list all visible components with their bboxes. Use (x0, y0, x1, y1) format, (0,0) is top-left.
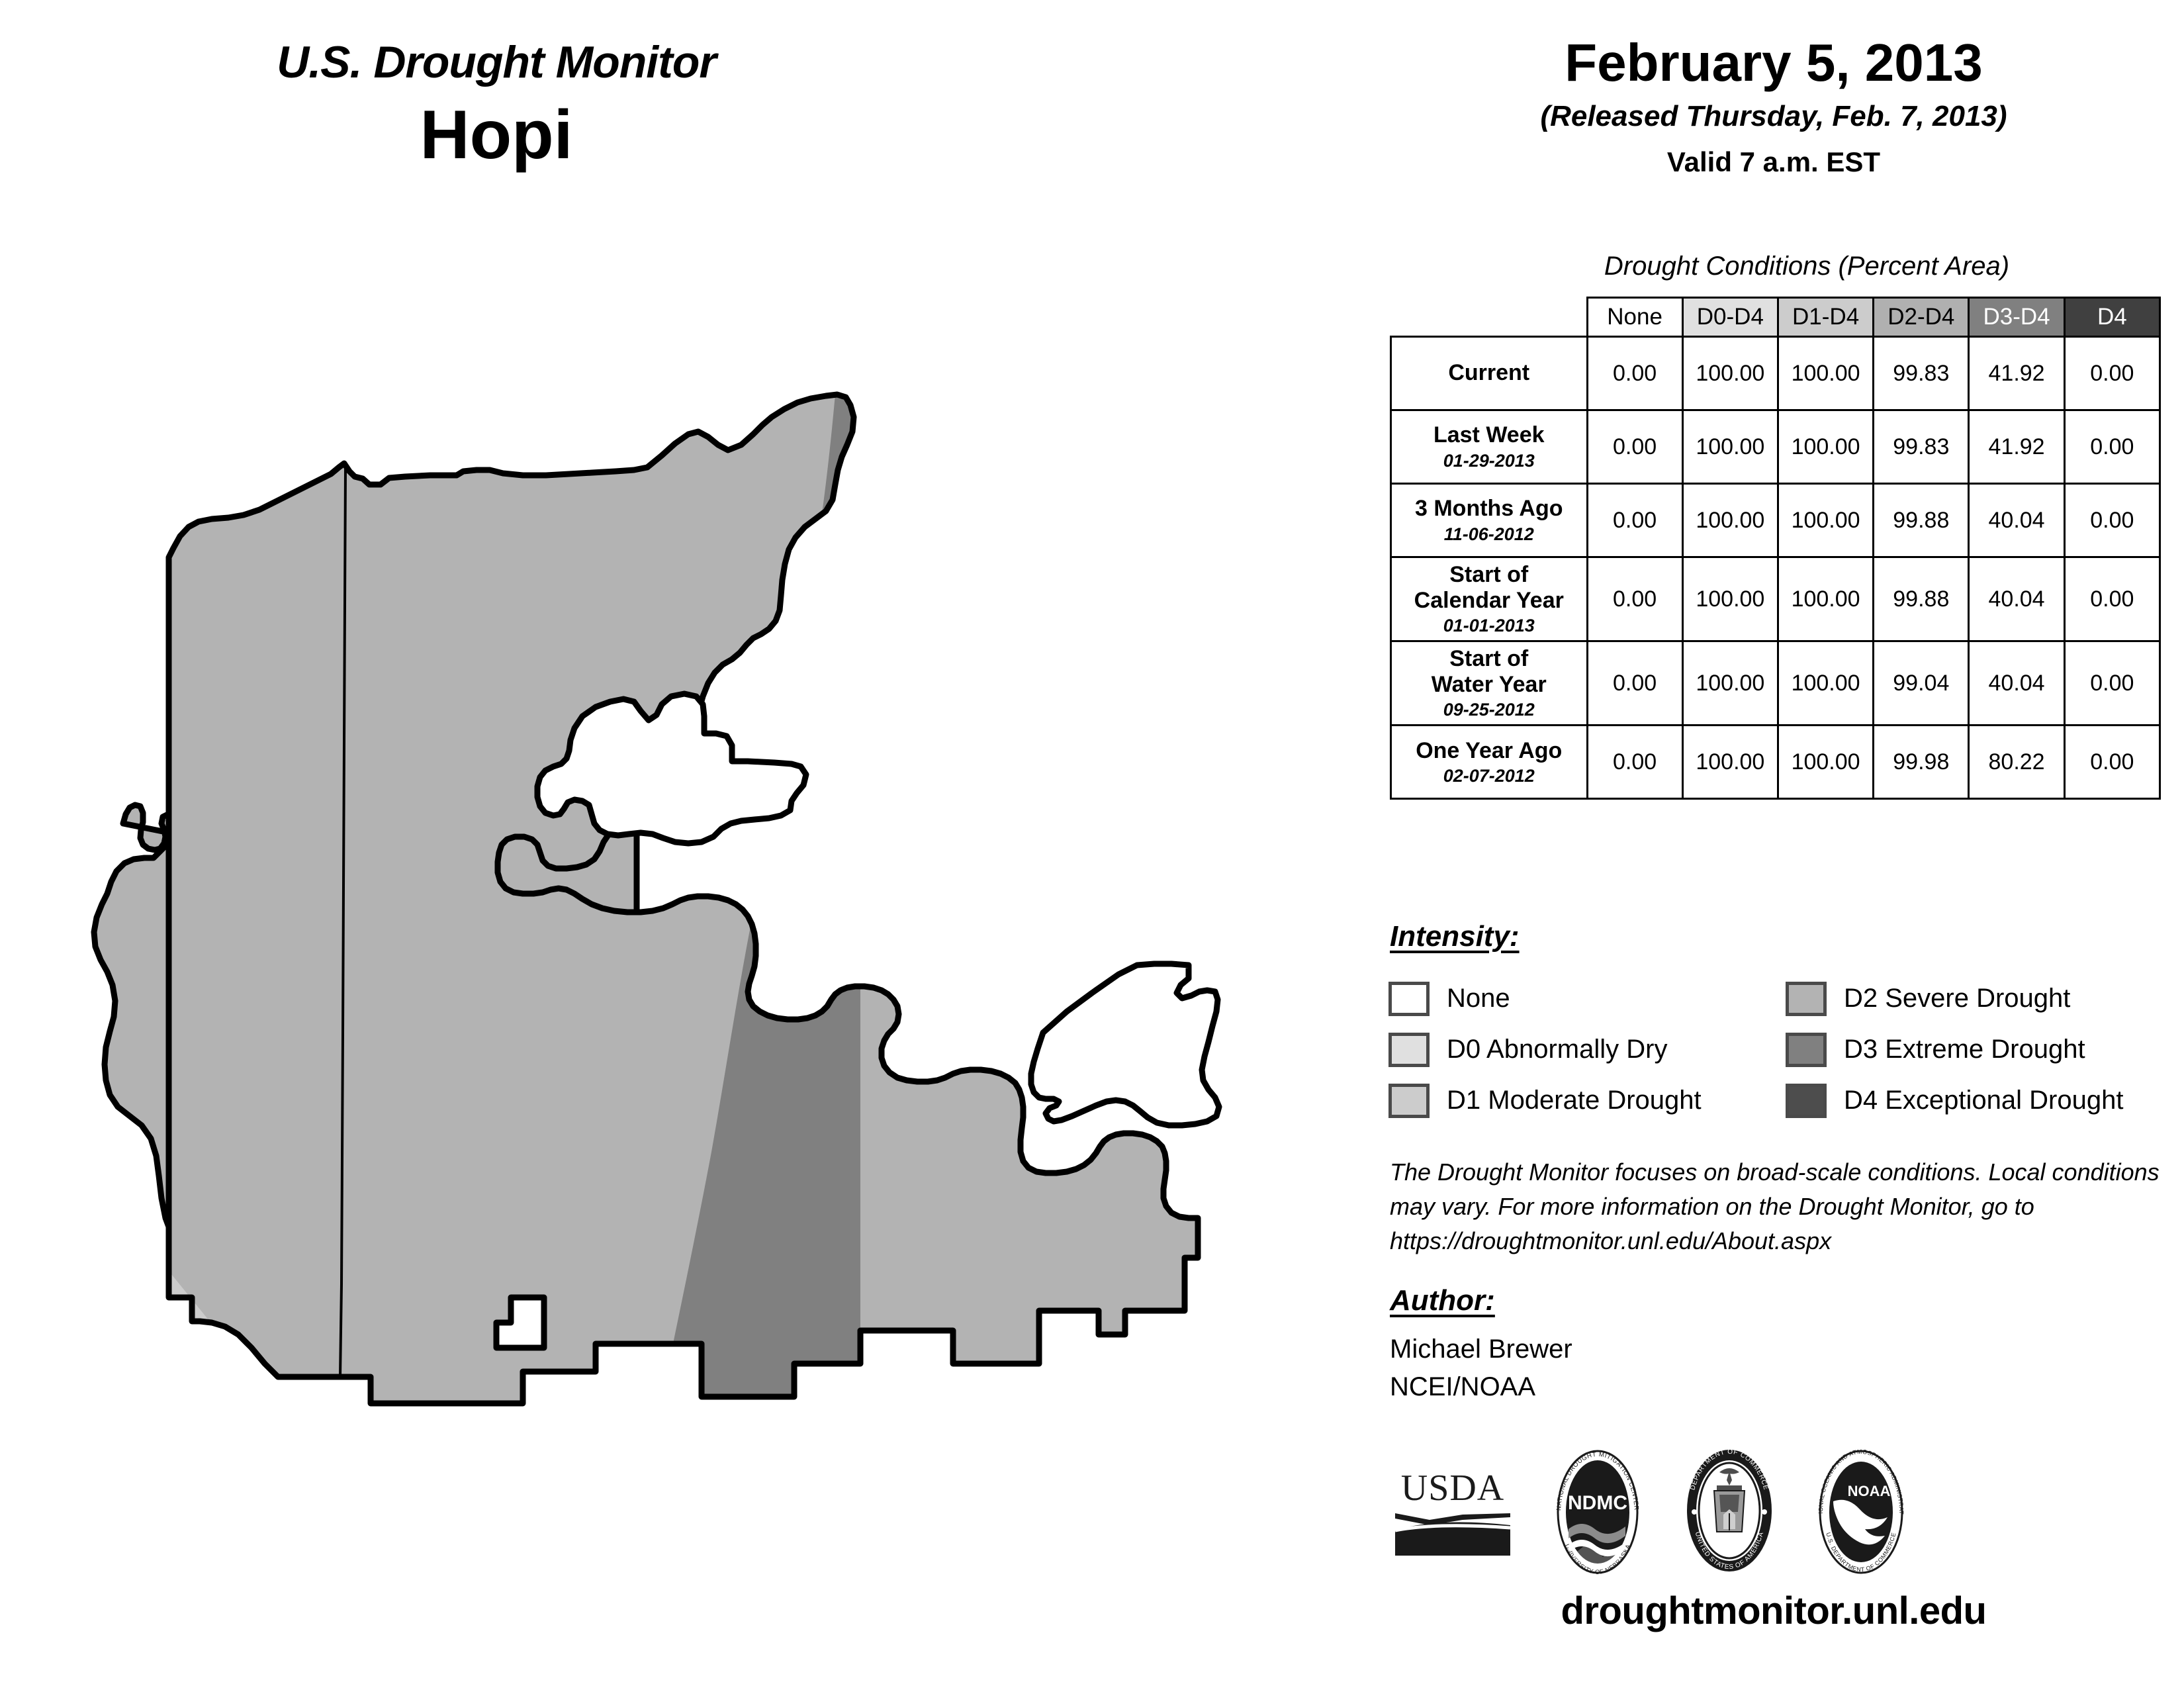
row-date: 11-06-2012 (1394, 524, 1584, 545)
cell-d3-d4: 41.92 (1969, 410, 2064, 484)
cell-d3-d4: 80.22 (1969, 726, 2064, 799)
table-row: Last Week01-29-20130.00100.00100.0099.83… (1391, 410, 2160, 484)
intensity-heading: Intensity: (1390, 920, 1520, 953)
cell-none: 0.00 (1587, 410, 1682, 484)
legend-item-d1: D1 Moderate Drought (1388, 1084, 1786, 1118)
table-caption: Drought Conditions (Percent Area) (1363, 252, 2184, 281)
row-date: 01-29-2013 (1394, 451, 1584, 471)
row-label: Last Week01-29-2013 (1391, 410, 1588, 484)
logo-row: USDA NATIONAL DROUGHT MITIGATION CENTER (1390, 1443, 2171, 1582)
column-header-d2-d4: D2-D4 (1874, 298, 1969, 337)
cell-d3-d4: 40.04 (1969, 557, 2064, 641)
page-title: U.S. Drought Monitor (0, 40, 993, 85)
cell-d0-d4: 100.00 (1682, 410, 1778, 484)
legend-label: None (1447, 984, 1510, 1013)
table-row: 3 Months Ago11-06-20120.00100.00100.0099… (1391, 484, 2160, 557)
author-name: Michael Brewer (1390, 1331, 1572, 1368)
author-block: Michael Brewer NCEI/NOAA (1390, 1331, 1572, 1406)
column-header-d4: D4 (2064, 298, 2160, 337)
map-hole-eastern (1031, 964, 1219, 1125)
legend-item-d2: D2 Severe Drought (1786, 982, 2183, 1016)
row-label: One Year Ago02-07-2012 (1391, 726, 1588, 799)
table-row: One Year Ago02-07-20120.00100.00100.0099… (1391, 726, 2160, 799)
cell-d4: 0.00 (2064, 557, 2160, 641)
legend-item-none: None (1388, 982, 1786, 1016)
date-block: February 5, 2013 (Released Thursday, Feb… (1363, 36, 2184, 178)
author-heading: Author: (1390, 1284, 1495, 1317)
cell-d1-d4: 100.00 (1778, 484, 1873, 557)
column-header-d1-d4: D1-D4 (1778, 298, 1873, 337)
area-title: Hopi (0, 99, 993, 171)
site-url: droughtmonitor.unl.edu (1363, 1589, 2184, 1633)
cell-d1-d4: 100.00 (1778, 641, 1873, 726)
legend-swatch (1786, 1084, 1827, 1118)
row-label: Start ofCalendar Year01-01-2013 (1391, 557, 1588, 641)
cell-none: 0.00 (1587, 641, 1682, 726)
cell-d2-d4: 99.83 (1874, 410, 1969, 484)
legend-swatch (1388, 1084, 1430, 1118)
cell-d2-d4: 99.98 (1874, 726, 1969, 799)
cell-d0-d4: 100.00 (1682, 337, 1778, 410)
legend-swatch (1786, 982, 1827, 1016)
table-row: Start ofWater Year09-25-20120.00100.0010… (1391, 641, 2160, 726)
svg-text:USDA: USDA (1401, 1468, 1504, 1509)
author-affiliation: NCEI/NOAA (1390, 1368, 1572, 1406)
cell-d4: 0.00 (2064, 726, 2160, 799)
legend-swatch (1786, 1033, 1827, 1067)
cell-d2-d4: 99.83 (1874, 337, 1969, 410)
cell-d4: 0.00 (2064, 484, 2160, 557)
cell-d2-d4: 99.04 (1874, 641, 1969, 726)
cell-d0-d4: 100.00 (1682, 641, 1778, 726)
map-panel: U.S. Drought Monitor Hopi (0, 0, 1363, 1688)
cell-d4: 0.00 (2064, 410, 2160, 484)
legend-label: D2 Severe Drought (1844, 984, 2070, 1013)
valid-time: Valid 7 a.m. EST (1363, 146, 2184, 178)
row-label: 3 Months Ago11-06-2012 (1391, 484, 1588, 557)
row-label: Start ofWater Year09-25-2012 (1391, 641, 1588, 726)
cell-d2-d4: 99.88 (1874, 484, 1969, 557)
doc-seal-logo: DEPARTMENT OF COMMERCE UNITED STATES OF … (1680, 1448, 1779, 1577)
table-header-row: None D0-D4 D1-D4 D2-D4 D3-D4 D4 (1391, 298, 2160, 337)
fill-d2-severe (0, 371, 1363, 1463)
legend-item-d0: D0 Abnormally Dry (1388, 1033, 1786, 1067)
main-fill-layers (0, 371, 1363, 1463)
row-date: 01-01-2013 (1394, 616, 1584, 636)
cell-none: 0.00 (1587, 557, 1682, 641)
legend-swatch (1388, 1033, 1430, 1067)
info-panel: February 5, 2013 (Released Thursday, Feb… (1363, 0, 2184, 1688)
noaa-logo: NATIONAL OCEANIC AND ATMOSPHERIC ADMINIS… (1811, 1448, 1911, 1577)
released-date: (Released Thursday, Feb. 7, 2013) (1363, 100, 2184, 133)
title-block: U.S. Drought Monitor Hopi (0, 40, 993, 171)
row-date: 09-25-2012 (1394, 700, 1584, 720)
drought-conditions-table: None D0-D4 D1-D4 D2-D4 D3-D4 D4 Current0… (1390, 297, 2161, 800)
cell-d3-d4: 40.04 (1969, 484, 2064, 557)
row-date: 02-07-2012 (1394, 766, 1584, 786)
cell-d4: 0.00 (2064, 641, 2160, 726)
legend-label: D3 Extreme Drought (1844, 1035, 2085, 1064)
cell-d0-d4: 100.00 (1682, 484, 1778, 557)
cell-d3-d4: 41.92 (1969, 337, 2064, 410)
legend-item-d4: D4 Exceptional Drought (1786, 1084, 2183, 1118)
cell-d0-d4: 100.00 (1682, 726, 1778, 799)
table-body: Current0.00100.00100.0099.8341.920.00Las… (1391, 337, 2160, 799)
cell-none: 0.00 (1587, 726, 1682, 799)
valid-date: February 5, 2013 (1363, 36, 2184, 89)
svg-text:NDMC: NDMC (1568, 1492, 1627, 1514)
cell-d0-d4: 100.00 (1682, 557, 1778, 641)
cell-d1-d4: 100.00 (1778, 557, 1873, 641)
row-label: Current (1391, 337, 1588, 410)
map-svg[interactable] (0, 371, 1363, 1463)
legend-item-d3: D3 Extreme Drought (1786, 1033, 2183, 1067)
table-corner-cell (1391, 298, 1588, 337)
table-row: Current0.00100.00100.0099.8341.920.00 (1391, 337, 2160, 410)
cell-d1-d4: 100.00 (1778, 410, 1873, 484)
legend-label: D4 Exceptional Drought (1844, 1086, 2123, 1115)
cell-none: 0.00 (1587, 337, 1682, 410)
cell-d3-d4: 40.04 (1969, 641, 2064, 726)
cell-none: 0.00 (1587, 484, 1682, 557)
ndmc-logo: NATIONAL DROUGHT MITIGATION CENTER UNIVE… (1547, 1448, 1648, 1577)
drought-map[interactable] (0, 371, 1363, 1463)
column-header-none: None (1587, 298, 1682, 337)
legend-swatch (1388, 982, 1430, 1016)
cell-d4: 0.00 (2064, 337, 2160, 410)
svg-text:NOAA: NOAA (1848, 1483, 1891, 1499)
intensity-legend: NoneD2 Severe DroughtD0 Abnormally DryD3… (1388, 973, 2183, 1126)
column-header-d3-d4: D3-D4 (1969, 298, 2064, 337)
table-row: Start ofCalendar Year01-01-20130.00100.0… (1391, 557, 2160, 641)
cell-d1-d4: 100.00 (1778, 726, 1873, 799)
legend-label: D1 Moderate Drought (1447, 1086, 1702, 1115)
disclaimer-text: The Drought Monitor focuses on broad-sca… (1390, 1155, 2171, 1258)
map-region-main (0, 371, 1363, 1463)
usda-logo: USDA (1390, 1462, 1516, 1564)
cell-d2-d4: 99.88 (1874, 557, 1969, 641)
legend-label: D0 Abnormally Dry (1447, 1035, 1667, 1064)
cell-d1-d4: 100.00 (1778, 337, 1873, 410)
column-header-d0-d4: D0-D4 (1682, 298, 1778, 337)
